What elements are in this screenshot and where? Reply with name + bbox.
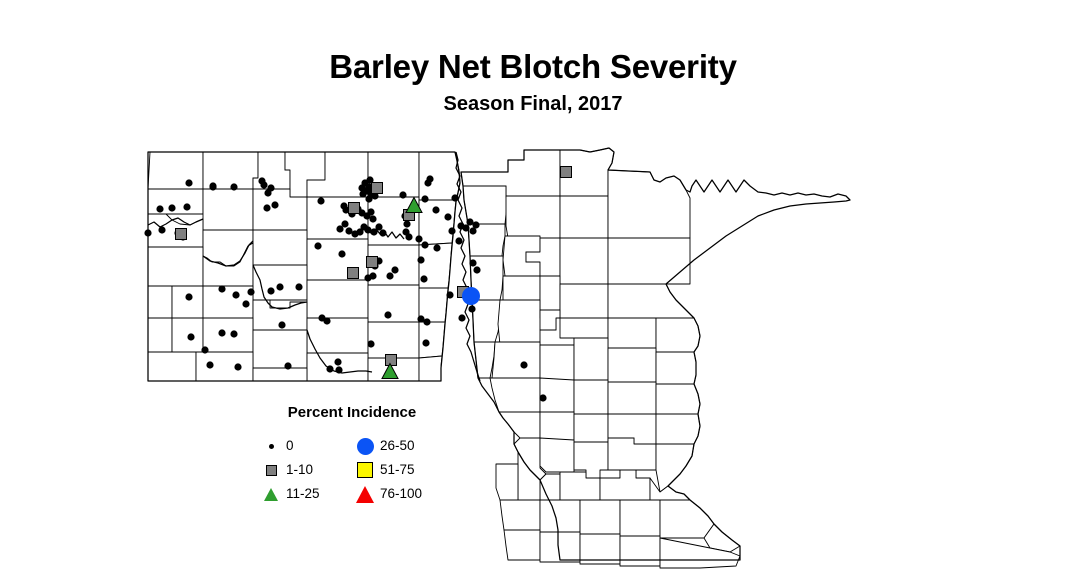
map-data-point-0 xyxy=(263,204,270,211)
map-data-point-0 xyxy=(158,226,165,233)
map-data-point-0 xyxy=(421,241,428,248)
map-data-point-0 xyxy=(230,330,237,337)
map-data-point-0 xyxy=(230,183,237,190)
map-data-point-0 xyxy=(384,311,391,318)
map-data-point-0 xyxy=(433,244,440,251)
map-data-point-0 xyxy=(448,227,455,234)
legend-label: 51-75 xyxy=(380,462,415,478)
map-data-point-0 xyxy=(539,394,546,401)
map-data-point-26-50 xyxy=(462,287,480,305)
legend-item-1-10: 1-10 xyxy=(260,458,320,482)
gray-square-icon xyxy=(260,460,282,480)
map-data-point-0 xyxy=(334,358,341,365)
legend-column-right: 26-50 51-75 76-100 xyxy=(354,434,422,506)
map-data-point-0 xyxy=(295,283,302,290)
map-data-point-0 xyxy=(185,179,192,186)
map-data-point-0 xyxy=(258,177,265,184)
map-data-point-0 xyxy=(462,224,469,231)
legend-label: 1-10 xyxy=(286,462,313,478)
map-data-point-0 xyxy=(458,314,465,321)
map-data-point-0 xyxy=(367,340,374,347)
map-data-point-0 xyxy=(426,175,433,182)
map-data-point-0 xyxy=(314,242,321,249)
map-data-point-0 xyxy=(209,182,216,189)
map-data-point-0 xyxy=(403,220,410,227)
map-data-point-1-10 xyxy=(348,268,359,279)
map-data-point-0 xyxy=(451,194,458,201)
map-data-point-0 xyxy=(469,227,476,234)
map-data-point-0 xyxy=(276,283,283,290)
map-data-point-0 xyxy=(399,191,406,198)
map-data-point-0 xyxy=(185,293,192,300)
map-data-point-0 xyxy=(335,366,342,373)
map-data-point-1-10 xyxy=(386,355,397,366)
legend-item-76-100: 76-100 xyxy=(354,482,422,506)
map-data-point-0 xyxy=(326,365,333,372)
map-data-point-0 xyxy=(455,237,462,244)
map-data-point-0 xyxy=(446,291,453,298)
map-data-point-0 xyxy=(201,346,208,353)
map-data-point-0 xyxy=(267,184,274,191)
map-data-point-0 xyxy=(183,203,190,210)
map-data-point-0 xyxy=(375,223,382,230)
map-data-point-0 xyxy=(386,272,393,279)
map-data-point-0 xyxy=(520,361,527,368)
north-dakota-counties xyxy=(148,152,460,381)
legend: Percent Incidence 0 1-10 11-25 26-50 xyxy=(252,404,452,508)
legend-label: 0 xyxy=(286,438,294,454)
legend-label: 26-50 xyxy=(380,438,415,454)
map-data-point-0 xyxy=(468,305,475,312)
legend-label: 76-100 xyxy=(380,486,422,502)
minnesota-counties xyxy=(461,148,740,568)
legend-item-26-50: 26-50 xyxy=(354,434,422,458)
map-data-point-0 xyxy=(473,266,480,273)
map-data-point-0 xyxy=(242,300,249,307)
map-data-point-0 xyxy=(391,266,398,273)
legend-label: 11-25 xyxy=(286,486,320,502)
map-data-point-0 xyxy=(234,363,241,370)
map-data-point-0 xyxy=(187,333,194,340)
map-data-point-0 xyxy=(422,339,429,346)
map-data-point-0 xyxy=(367,208,374,215)
map-data-point-0 xyxy=(247,288,254,295)
map-data-point-0 xyxy=(218,329,225,336)
map-data-point-0 xyxy=(421,195,428,202)
map-data-point-0 xyxy=(423,318,430,325)
map-data-point-0 xyxy=(284,362,291,369)
map-data-point-0 xyxy=(369,215,376,222)
map-data-point-0 xyxy=(278,321,285,328)
map-data-point-0 xyxy=(206,361,213,368)
map-data-point-0 xyxy=(469,259,476,266)
map-data-point-0 xyxy=(417,256,424,263)
map-data-point-0 xyxy=(144,229,151,236)
map-data-point-0 xyxy=(267,287,274,294)
small-black-dot-icon xyxy=(260,436,282,456)
legend-column-left: 0 1-10 11-25 xyxy=(260,434,320,506)
map-data-point-1-10 xyxy=(367,257,378,268)
map-data-point-0 xyxy=(232,291,239,298)
legend-item-51-75: 51-75 xyxy=(354,458,422,482)
map-data-point-0 xyxy=(338,250,345,257)
legend-item-0: 0 xyxy=(260,434,320,458)
map-data-point-0 xyxy=(168,204,175,211)
map-data-point-0 xyxy=(415,235,422,242)
map-data-point-0 xyxy=(317,197,324,204)
yellow-square-icon xyxy=(354,460,376,480)
map-data-point-0 xyxy=(444,213,451,220)
legend-title: Percent Incidence xyxy=(252,404,452,422)
map-data-point-0 xyxy=(420,275,427,282)
map-data-point-0 xyxy=(156,205,163,212)
map-data-point-0 xyxy=(218,285,225,292)
map-data-point-1-10 xyxy=(349,203,360,214)
legend-item-11-25: 11-25 xyxy=(260,482,320,506)
map-data-point-0 xyxy=(432,206,439,213)
map-data-point-0 xyxy=(405,233,412,240)
red-triangle-icon xyxy=(354,484,376,504)
map-data-point-0 xyxy=(271,201,278,208)
map-data-point-1-10 xyxy=(176,229,187,240)
map-graphic xyxy=(0,0,1066,587)
map-data-point-0 xyxy=(379,229,386,236)
map-data-point-1-10 xyxy=(372,183,383,194)
figure-canvas: Barley Net Blotch Severity Season Final,… xyxy=(0,0,1066,587)
map-data-point-0 xyxy=(369,272,376,279)
blue-circle-icon xyxy=(354,436,376,456)
green-triangle-icon xyxy=(260,484,282,504)
map-data-point-0 xyxy=(336,225,343,232)
map-data-point-0 xyxy=(323,317,330,324)
map-data-point-1-10 xyxy=(561,167,572,178)
